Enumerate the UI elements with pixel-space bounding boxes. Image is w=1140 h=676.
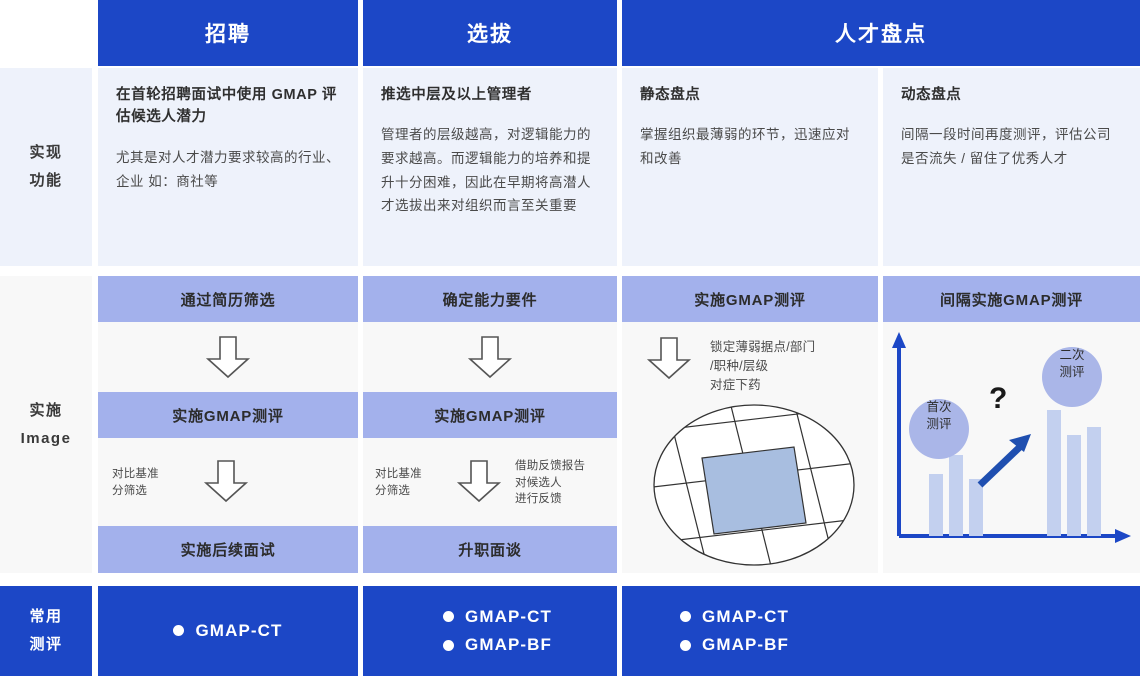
assessment-item: GMAP-CT bbox=[443, 603, 617, 631]
flow-step-chip: 确定能力要件 bbox=[363, 276, 617, 322]
assessment-label: GMAP-CT bbox=[465, 603, 552, 631]
assessment-label: GMAP-BF bbox=[702, 631, 789, 659]
flow-cell-dynamic: 间隔实施GMAP测评 bbox=[883, 276, 1140, 573]
flow-caption-right: 借助反馈报告 对候选人 进行反馈 bbox=[515, 458, 611, 508]
row-label-features-line2: 功能 bbox=[29, 167, 62, 195]
assessment-item: GMAP-CT bbox=[173, 617, 282, 645]
down-arrow-icon bbox=[98, 322, 358, 392]
bubble-second-line1: 二次 bbox=[1042, 347, 1102, 364]
row-label-assessments: 常用 测评 bbox=[0, 586, 92, 676]
flow-step-chip: 实施GMAP测评 bbox=[363, 392, 617, 438]
flow-cell-static: 实施GMAP测评 锁定薄弱据点/部门 /职种/层级 对症下药 bbox=[622, 276, 878, 573]
feature-title: 在首轮招聘面试中使用 GMAP 评估候选人潜力 bbox=[116, 84, 340, 129]
header-talent-review-label: 人才盘点 bbox=[835, 18, 927, 48]
feature-title: 推选中层及以上管理者 bbox=[381, 84, 599, 106]
down-arrow-icon bbox=[363, 322, 617, 392]
feature-title: 动态盘点 bbox=[901, 84, 1122, 106]
flow-step-chip: 升职面谈 bbox=[363, 526, 617, 573]
bullet-icon bbox=[680, 640, 691, 651]
row-label-features-line1: 实现 bbox=[29, 139, 62, 167]
header-select: 选拔 bbox=[363, 0, 617, 66]
row-label-image-line1: 实施 bbox=[29, 397, 62, 425]
header-talent-review: 人才盘点 bbox=[622, 0, 1140, 66]
bubble-second-assessment: 二次 测评 bbox=[1042, 347, 1102, 381]
header-recruit-label: 招聘 bbox=[205, 18, 251, 48]
bullet-icon bbox=[680, 611, 691, 622]
flow-step-chip: 实施GMAP测评 bbox=[622, 276, 878, 322]
bubble-second-line2: 测评 bbox=[1042, 364, 1102, 381]
flow-caption-left: 对比基准 分筛选 bbox=[112, 466, 184, 499]
down-arrow-icon bbox=[449, 456, 509, 506]
row-label-assessments-line1: 常用 bbox=[29, 603, 62, 631]
static-caption: 锁定薄弱据点/部门 /职种/层级 对症下药 bbox=[710, 338, 870, 394]
assessment-label: GMAP-CT bbox=[702, 603, 789, 631]
feature-body: 尤其是对人才潜力要求较高的行业、企业 如：商社等 bbox=[116, 146, 340, 193]
assessment-cell-recruit: GMAP-CT bbox=[98, 586, 358, 676]
feature-cell-recruit: 在首轮招聘面试中使用 GMAP 评估候选人潜力 尤其是对人才潜力要求较高的行业、… bbox=[98, 68, 358, 266]
flow-step-chip: 间隔实施GMAP测评 bbox=[883, 276, 1140, 322]
flow-caption-left: 对比基准 分筛选 bbox=[375, 466, 447, 499]
down-arrow-icon bbox=[634, 334, 704, 382]
assessment-label: GMAP-CT bbox=[195, 617, 282, 645]
bubble-first-line2: 测评 bbox=[909, 416, 969, 433]
feature-body: 管理者的层级越高，对逻辑能力的要求越高。而逻辑能力的培养和提升十分困难，因此在早… bbox=[381, 123, 599, 218]
feature-title: 静态盘点 bbox=[640, 84, 860, 106]
flow-arrow-group: 对比基准 分筛选 bbox=[98, 438, 358, 526]
flow-step-chip: 实施GMAP测评 bbox=[98, 392, 358, 438]
assessment-label: GMAP-BF bbox=[465, 631, 552, 659]
header-select-label: 选拔 bbox=[467, 18, 513, 48]
bullet-icon bbox=[443, 611, 454, 622]
assessment-cell-talent-review: GMAP-CT GMAP-BF bbox=[622, 586, 1140, 676]
bubble-first-line1: 首次 bbox=[909, 399, 969, 416]
question-mark-annotation: ? bbox=[989, 382, 1007, 416]
assessment-item: GMAP-BF bbox=[680, 631, 1140, 659]
assessment-item: GMAP-CT bbox=[680, 603, 1140, 631]
row-label-features: 实现 功能 bbox=[0, 68, 92, 266]
assessment-item: GMAP-BF bbox=[443, 631, 617, 659]
weak-spot-ellipse-diagram bbox=[630, 400, 878, 570]
bullet-icon bbox=[443, 640, 454, 651]
row-label-image-line2: Image bbox=[21, 425, 72, 453]
bullet-icon bbox=[173, 625, 184, 636]
row-label-image: 实施 Image bbox=[0, 276, 92, 573]
assessment-cell-select: GMAP-CT GMAP-BF bbox=[363, 586, 617, 676]
feature-cell-select: 推选中层及以上管理者 管理者的层级越高，对逻辑能力的要求越高。而逻辑能力的培养和… bbox=[363, 68, 617, 266]
feature-cell-dynamic: 动态盘点 间隔一段时间再度测评，评估公司是否流失 / 留住了优秀人才 bbox=[883, 68, 1140, 266]
flow-step-chip: 通过简历筛选 bbox=[98, 276, 358, 322]
row-label-assessments-line2: 测评 bbox=[29, 631, 62, 659]
feature-cell-static: 静态盘点 掌握组织最薄弱的环节，迅速应对和改善 bbox=[622, 68, 878, 266]
down-arrow-icon bbox=[196, 456, 256, 506]
feature-body: 掌握组织最薄弱的环节，迅速应对和改善 bbox=[640, 123, 860, 170]
flow-arrow-group: 对比基准 分筛选 借助反馈报告 对候选人 进行反馈 bbox=[363, 438, 617, 526]
infographic-root: 招聘 选拔 人才盘点 实现 功能 在首轮招聘面试中使用 GMAP 评估候选人潜力… bbox=[0, 0, 1140, 676]
feature-body: 间隔一段时间再度测评，评估公司是否流失 / 留住了优秀人才 bbox=[901, 123, 1122, 170]
dynamic-bar-chart: 首次 测评 二次 测评 ? bbox=[883, 322, 1140, 573]
bubble-first-assessment: 首次 测评 bbox=[909, 399, 969, 433]
flow-cell-select: 确定能力要件 实施GMAP测评 对比基准 分筛选 借助反馈报告 对候选人 进行反… bbox=[363, 276, 617, 573]
flow-step-chip: 实施后续面试 bbox=[98, 526, 358, 573]
header-recruit: 招聘 bbox=[98, 0, 358, 66]
flow-cell-recruit: 通过简历筛选 实施GMAP测评 对比基准 分筛选 实施后续面试 bbox=[98, 276, 358, 573]
